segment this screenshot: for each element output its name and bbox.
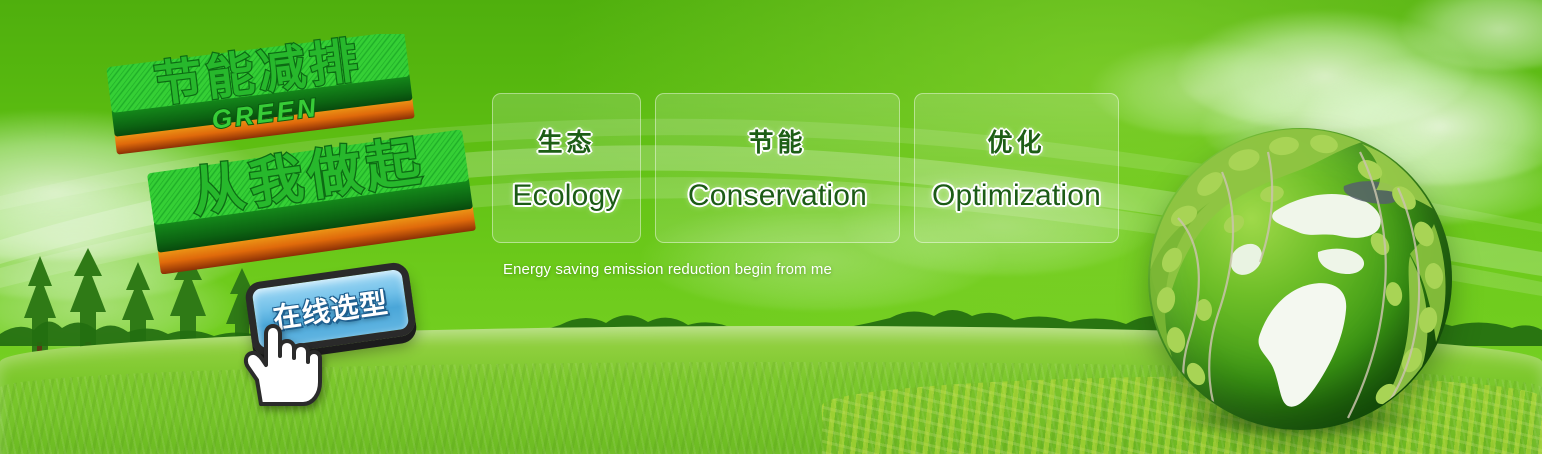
- feature-card-list: 生态 Ecology 节能 Conservation 优化 Optimizati…: [492, 93, 1119, 243]
- cloud-icon: [1400, 0, 1542, 70]
- hero-3d-headline: 节能减排 GREEN 从我做起: [92, 34, 492, 274]
- leafy-earth-globe: [1148, 128, 1452, 430]
- banner-tagline: Energy saving emission reduction begin f…: [503, 261, 832, 278]
- feature-card-ecology[interactable]: 生态 Ecology: [492, 93, 641, 243]
- feature-card-optimization[interactable]: 优化 Optimization: [914, 93, 1119, 243]
- cloud-icon: [1175, 10, 1475, 130]
- card-title-en: Optimization: [932, 179, 1101, 213]
- hand-pointer-icon: [237, 318, 323, 408]
- feature-card-conservation[interactable]: 节能 Conservation: [655, 93, 900, 243]
- globe-sphere: [1148, 128, 1452, 430]
- green-energy-banner: 节能减排 GREEN 从我做起 在线选型 生态 Ecology: [0, 0, 1542, 454]
- card-title-en: Ecology: [512, 179, 620, 213]
- card-title-cn: 优化: [987, 123, 1045, 159]
- card-title-cn: 节能: [748, 123, 806, 159]
- cloud-icon: [1090, 40, 1310, 135]
- card-title-cn: 生态: [537, 123, 595, 159]
- card-title-en: Conservation: [688, 179, 867, 213]
